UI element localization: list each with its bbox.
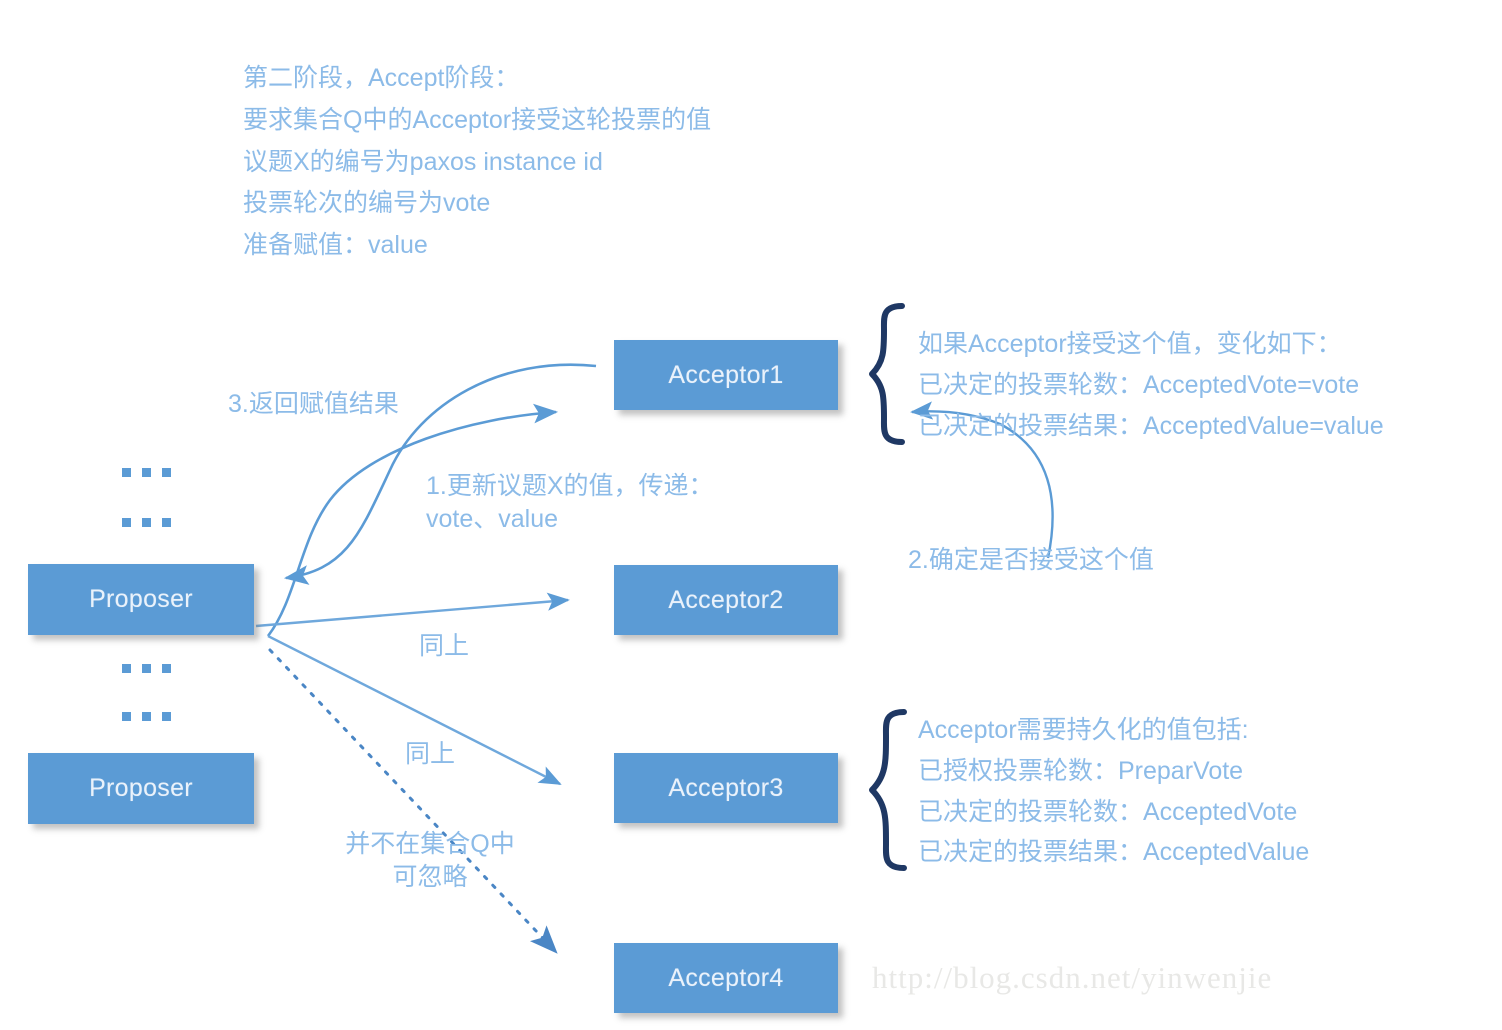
brace-accept-result (872, 306, 902, 442)
brace-persisted-values (872, 712, 904, 868)
annotation-accept-result: 如果Acceptor接受这个值，变化如下： 已决定的投票轮数：AcceptedV… (918, 324, 1384, 446)
connectors-layer (0, 0, 1502, 1030)
phase-description: 第二阶段，Accept阶段： 要求集合Q中的Acceptor接受这轮投票的值 议… (243, 58, 711, 267)
watermark-url: http://blog.csdn.net/yinwenjie (872, 960, 1272, 996)
label-not-in-quorum: 并不在集合Q中 可忽略 (320, 828, 540, 894)
ellipsis-dots-4 (122, 712, 171, 721)
annotation-persisted-values: Acceptor需要持久化的值包括: 已授权投票轮数：PreparVote 已决… (918, 710, 1309, 873)
node-proposer-top[interactable]: Proposer (28, 564, 254, 635)
label-step-2-decide-accept: 2.确定是否接受这个值 (908, 544, 1154, 577)
node-acceptor2[interactable]: Acceptor2 (614, 565, 838, 635)
arrow-proposer-to-acceptor4-dotted (270, 650, 556, 952)
diagram-canvas: 第二阶段，Accept阶段： 要求集合Q中的Acceptor接受这轮投票的值 议… (0, 0, 1502, 1030)
arrow-proposer-to-acceptor2 (256, 600, 568, 626)
label-step-3-return-result: 3.返回赋值结果 (228, 388, 399, 421)
node-acceptor4[interactable]: Acceptor4 (614, 943, 838, 1013)
node-acceptor3[interactable]: Acceptor3 (614, 753, 838, 823)
node-acceptor1[interactable]: Acceptor1 (614, 340, 838, 410)
ellipsis-dots-1 (122, 468, 171, 477)
label-same-as-above-1: 同上 (419, 630, 469, 663)
ellipsis-dots-2 (122, 518, 171, 527)
label-same-as-above-2: 同上 (405, 738, 455, 771)
node-proposer-bottom[interactable]: Proposer (28, 753, 254, 824)
label-step-1-update-value: 1.更新议题X的值，传递： vote、value (426, 470, 714, 536)
ellipsis-dots-3 (122, 664, 171, 673)
